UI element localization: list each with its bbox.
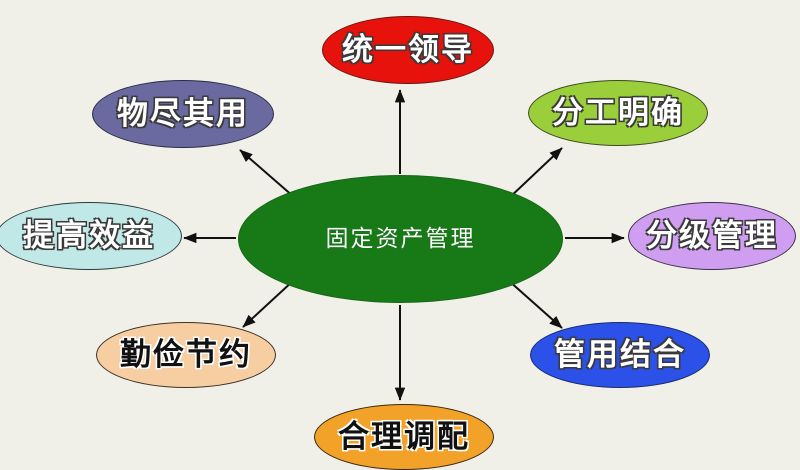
node-label-rational-allocation: 合理调配 xyxy=(338,422,470,453)
node-label-unified-leadership: 统一领导 xyxy=(342,35,474,66)
connector-to-bottom-right xyxy=(508,280,562,328)
node-label-clear-division-of-labor: 分工明确 xyxy=(552,98,684,129)
node-thrift-and-economy[interactable]: 勤俭节约 xyxy=(96,322,276,388)
node-label-make-best-use-of-everything: 物尽其用 xyxy=(117,99,249,130)
center-node-fixed-asset-management[interactable]: 固定资产管理 xyxy=(238,175,563,303)
node-improve-efficiency[interactable]: 提高效益 xyxy=(0,202,182,270)
node-make-best-use-of-everything[interactable]: 物尽其用 xyxy=(92,80,274,148)
node-label-management-use-integration: 管用结合 xyxy=(554,340,686,371)
node-management-use-integration[interactable]: 管用结合 xyxy=(530,322,710,388)
node-unified-leadership[interactable]: 统一领导 xyxy=(322,16,494,84)
node-rational-allocation[interactable]: 合理调配 xyxy=(314,404,494,470)
connector-to-top-left xyxy=(240,150,294,197)
node-label-thrift-and-economy: 勤俭节约 xyxy=(120,340,252,371)
center-node-label: 固定资产管理 xyxy=(326,228,476,251)
connector-to-bottom-left xyxy=(243,280,294,327)
node-label-improve-efficiency: 提高效益 xyxy=(23,221,155,252)
diagram-canvas: 固定资产管理 统一领导 分工明确 分级管理 管用结合 合理调配 勤俭节约 提高效… xyxy=(0,0,800,468)
node-hierarchical-management[interactable]: 分级管理 xyxy=(628,202,796,270)
connector-to-top-right xyxy=(508,148,562,199)
node-clear-division-of-labor[interactable]: 分工明确 xyxy=(528,80,708,146)
node-label-hierarchical-management: 分级管理 xyxy=(646,221,778,252)
